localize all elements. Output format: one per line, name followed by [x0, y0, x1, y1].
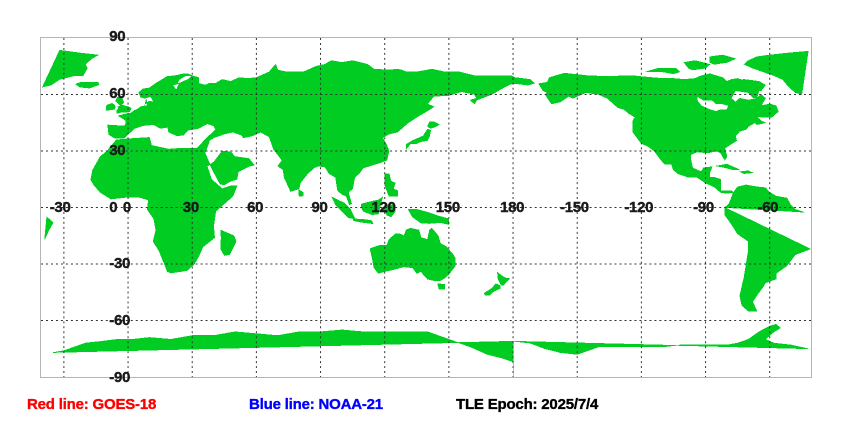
- lon-tick-120: 120: [371, 200, 395, 215]
- lat-tick-0: 0: [109, 200, 117, 215]
- legend-tle-epoch: TLE Epoch: 2025/7/4: [456, 396, 598, 413]
- lon-tick-neg90: -90: [693, 200, 714, 215]
- lon-tick-neg30: -30: [50, 200, 71, 215]
- lon-tick-0: 0: [123, 200, 131, 215]
- lon-tick-60: 60: [247, 200, 263, 215]
- lat-tick-30: 30: [109, 143, 125, 158]
- lat-tick-neg60: -60: [109, 313, 130, 328]
- lat-tick-60: 60: [109, 86, 125, 101]
- lon-tick-90: 90: [311, 200, 327, 215]
- lon-tick-neg60: -60: [757, 200, 778, 215]
- legend-blue-line: Blue line: NOAA-21: [249, 396, 383, 413]
- lon-tick-150: 150: [436, 200, 460, 215]
- lon-tick-neg120: -120: [624, 200, 653, 215]
- lat-tick-neg90: -90: [109, 370, 130, 385]
- figure-canvas: 9060300-30-60-90 -300306090120150180-150…: [0, 0, 850, 425]
- lon-tick-180: 180: [500, 200, 524, 215]
- lat-tick-90: 90: [109, 29, 125, 44]
- lon-tick-neg150: -150: [560, 200, 589, 215]
- lon-tick-30: 30: [183, 200, 199, 215]
- legend-red-line: Red line: GOES-18: [27, 396, 156, 413]
- lat-tick-neg30: -30: [109, 256, 130, 271]
